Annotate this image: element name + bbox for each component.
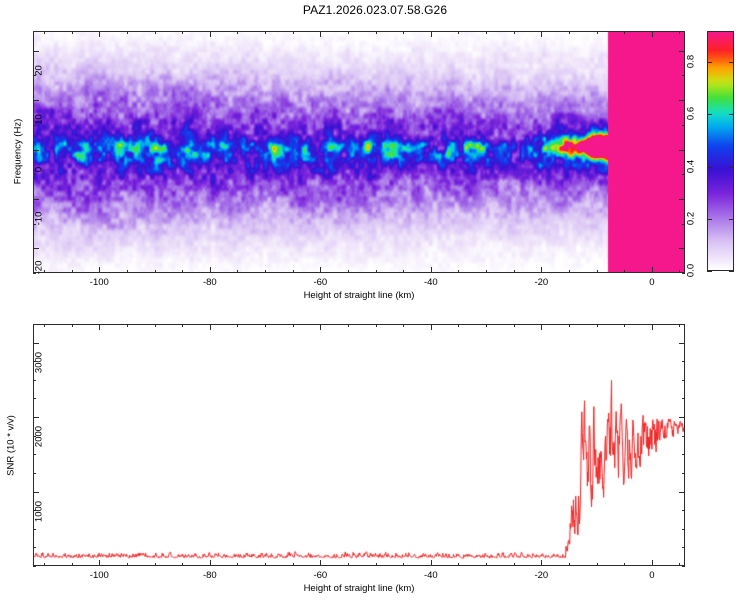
x-minor-tick	[403, 31, 404, 34]
x-tick-label: -40	[413, 277, 449, 288]
x-minor-tick	[155, 563, 156, 566]
x-minor-tick	[293, 563, 294, 566]
y-minor-tick	[682, 417, 685, 418]
y-minor-tick	[682, 436, 685, 437]
spectrogram-x-axis-label: Height of straight line (km)	[0, 290, 718, 301]
x-minor-tick	[265, 563, 266, 566]
x-minor-tick	[376, 270, 377, 273]
x-minor-tick	[431, 563, 432, 566]
x-minor-tick	[127, 563, 128, 566]
x-minor-tick	[624, 563, 625, 566]
x-minor-tick	[597, 324, 598, 327]
x-minor-tick	[541, 324, 542, 327]
y-minor-tick	[33, 510, 36, 511]
x-minor-tick	[403, 270, 404, 273]
x-minor-tick	[155, 31, 156, 34]
colorbar-tick-label: 0.4	[686, 146, 697, 186]
y-minor-tick	[682, 398, 685, 399]
y-minor-tick	[33, 473, 36, 474]
x-minor-tick	[127, 324, 128, 327]
x-minor-tick	[320, 31, 321, 34]
colorbar-tick-label: 0.6	[686, 94, 697, 134]
colorbar-tick	[707, 114, 712, 115]
x-minor-tick	[210, 324, 211, 327]
y-minor-tick	[33, 454, 36, 455]
colorbar-tick	[707, 271, 712, 272]
snr-plot-area	[33, 324, 685, 566]
x-minor-tick	[652, 31, 653, 34]
x-minor-tick	[514, 31, 515, 34]
x-minor-tick	[237, 324, 238, 327]
x-minor-tick	[541, 563, 542, 566]
x-minor-tick	[569, 563, 570, 566]
x-minor-tick	[486, 31, 487, 34]
colorbar-tick-label: 0.0	[686, 251, 697, 291]
y-minor-tick	[33, 547, 36, 548]
y-minor-tick	[682, 547, 685, 548]
x-minor-tick	[44, 563, 45, 566]
x-minor-tick	[348, 324, 349, 327]
y-minor-tick	[33, 361, 36, 362]
x-tick-label: -100	[81, 570, 117, 581]
x-minor-tick	[431, 324, 432, 327]
colorbar-tick-label: 0.2	[686, 198, 697, 238]
y-minor-tick	[682, 510, 685, 511]
x-minor-tick	[652, 270, 653, 273]
x-minor-tick	[72, 31, 73, 34]
colorbar-gradient	[707, 31, 734, 271]
colorbar-tick	[729, 62, 734, 63]
y-minor-tick	[682, 343, 685, 344]
x-minor-tick	[486, 270, 487, 273]
x-minor-tick	[182, 270, 183, 273]
x-minor-tick	[320, 563, 321, 566]
y-minor-tick	[682, 473, 685, 474]
x-minor-tick	[624, 324, 625, 327]
x-minor-tick	[376, 31, 377, 34]
y-minor-tick	[33, 51, 36, 52]
x-minor-tick	[679, 563, 680, 566]
colorbar-tick	[729, 167, 734, 168]
x-minor-tick	[127, 270, 128, 273]
x-tick-label: -20	[523, 570, 559, 581]
x-tick-label: 0	[634, 570, 670, 581]
y-minor-tick	[33, 248, 36, 249]
x-tick-label: -80	[192, 277, 228, 288]
x-minor-tick	[348, 563, 349, 566]
x-minor-tick	[44, 324, 45, 327]
x-minor-tick	[431, 270, 432, 273]
x-minor-tick	[182, 563, 183, 566]
x-minor-tick	[182, 324, 183, 327]
x-minor-tick	[652, 563, 653, 566]
x-minor-tick	[72, 324, 73, 327]
y-minor-tick	[33, 100, 36, 101]
x-minor-tick	[597, 31, 598, 34]
y-minor-tick	[33, 324, 36, 325]
y-minor-tick	[33, 199, 36, 200]
x-minor-tick	[237, 563, 238, 566]
x-minor-tick	[44, 31, 45, 34]
x-minor-tick	[458, 563, 459, 566]
y-minor-tick	[33, 273, 36, 274]
spectrogram-plot-area	[33, 31, 685, 273]
y-minor-tick	[33, 380, 36, 381]
x-minor-tick	[210, 31, 211, 34]
x-minor-tick	[597, 563, 598, 566]
x-minor-tick	[155, 324, 156, 327]
x-minor-tick	[514, 270, 515, 273]
x-minor-tick	[679, 270, 680, 273]
y-tick-label: -20	[34, 248, 45, 288]
x-minor-tick	[348, 270, 349, 273]
x-minor-tick	[569, 31, 570, 34]
x-minor-tick	[293, 270, 294, 273]
y-tick-label: 10	[34, 100, 45, 140]
y-tick-label: -10	[34, 198, 45, 238]
x-minor-tick	[293, 31, 294, 34]
x-minor-tick	[652, 324, 653, 327]
colorbar-tick	[729, 219, 734, 220]
x-minor-tick	[72, 563, 73, 566]
x-minor-tick	[210, 563, 211, 566]
y-minor-tick	[33, 343, 36, 344]
x-minor-tick	[265, 324, 266, 327]
y-minor-tick	[33, 398, 36, 399]
spectrogram-y-axis-label: Frequency (Hz)	[13, 92, 24, 212]
x-minor-tick	[458, 31, 459, 34]
y-minor-tick	[682, 492, 685, 493]
y-minor-tick	[33, 150, 36, 151]
x-minor-tick	[458, 324, 459, 327]
x-minor-tick	[348, 31, 349, 34]
x-minor-tick	[514, 324, 515, 327]
y-minor-tick	[682, 529, 685, 530]
x-minor-tick	[541, 270, 542, 273]
x-tick-label: -40	[413, 570, 449, 581]
y-minor-tick	[33, 436, 36, 437]
x-minor-tick	[320, 270, 321, 273]
x-tick-label: -80	[192, 570, 228, 581]
x-minor-tick	[458, 270, 459, 273]
y-minor-tick	[33, 417, 36, 418]
x-minor-tick	[265, 31, 266, 34]
x-minor-tick	[376, 324, 377, 327]
y-minor-tick	[33, 529, 36, 530]
x-minor-tick	[99, 563, 100, 566]
snr-y-axis-label: SNR (10 * v/v)	[6, 386, 17, 506]
colorbar-tick	[729, 271, 734, 272]
y-tick-label: 20	[34, 50, 45, 90]
x-minor-tick	[320, 324, 321, 327]
x-tick-label: 0	[634, 277, 670, 288]
y-tick-label: 0	[34, 149, 45, 189]
y-minor-tick	[33, 224, 36, 225]
y-minor-tick	[682, 454, 685, 455]
y-minor-tick	[33, 566, 36, 567]
y-minor-tick	[682, 380, 685, 381]
x-tick-label: -60	[302, 570, 338, 581]
x-minor-tick	[569, 324, 570, 327]
colorbar-tick	[707, 62, 712, 63]
x-minor-tick	[541, 31, 542, 34]
x-minor-tick	[624, 270, 625, 273]
x-minor-tick	[679, 31, 680, 34]
x-minor-tick	[293, 324, 294, 327]
x-minor-tick	[486, 324, 487, 327]
colorbar-tick	[729, 114, 734, 115]
x-tick-label: -100	[81, 277, 117, 288]
x-minor-tick	[403, 324, 404, 327]
x-minor-tick	[597, 270, 598, 273]
x-minor-tick	[569, 270, 570, 273]
x-minor-tick	[127, 31, 128, 34]
snr-x-axis-label: Height of straight line (km)	[0, 583, 718, 594]
x-minor-tick	[72, 270, 73, 273]
x-minor-tick	[679, 324, 680, 327]
x-minor-tick	[99, 31, 100, 34]
x-minor-tick	[155, 270, 156, 273]
x-minor-tick	[210, 270, 211, 273]
y-minor-tick	[682, 361, 685, 362]
x-minor-tick	[237, 270, 238, 273]
x-minor-tick	[514, 563, 515, 566]
colorbar-tick-label: 0.8	[686, 42, 697, 82]
figure-canvas: PAZ1.2026.023.07.58.G26 -100-80-60-40-20…	[0, 0, 750, 600]
colorbar-tick	[707, 219, 712, 220]
x-minor-tick	[237, 31, 238, 34]
x-minor-tick	[376, 563, 377, 566]
x-minor-tick	[265, 270, 266, 273]
y-minor-tick	[33, 492, 36, 493]
colorbar-tick	[707, 167, 712, 168]
x-minor-tick	[431, 31, 432, 34]
x-minor-tick	[624, 31, 625, 34]
x-minor-tick	[182, 31, 183, 34]
x-tick-label: -20	[523, 277, 559, 288]
snr-line-series	[34, 325, 684, 565]
y-minor-tick	[33, 75, 36, 76]
figure-title: PAZ1.2026.023.07.58.G26	[0, 3, 750, 17]
x-minor-tick	[403, 563, 404, 566]
y-minor-tick	[682, 566, 685, 567]
x-tick-label: -60	[302, 277, 338, 288]
y-minor-tick	[33, 174, 36, 175]
y-minor-tick	[33, 125, 36, 126]
y-minor-tick	[682, 324, 685, 325]
y-minor-tick	[682, 248, 685, 249]
spectrogram-image	[34, 32, 684, 272]
x-minor-tick	[486, 563, 487, 566]
x-minor-tick	[99, 324, 100, 327]
x-minor-tick	[99, 270, 100, 273]
